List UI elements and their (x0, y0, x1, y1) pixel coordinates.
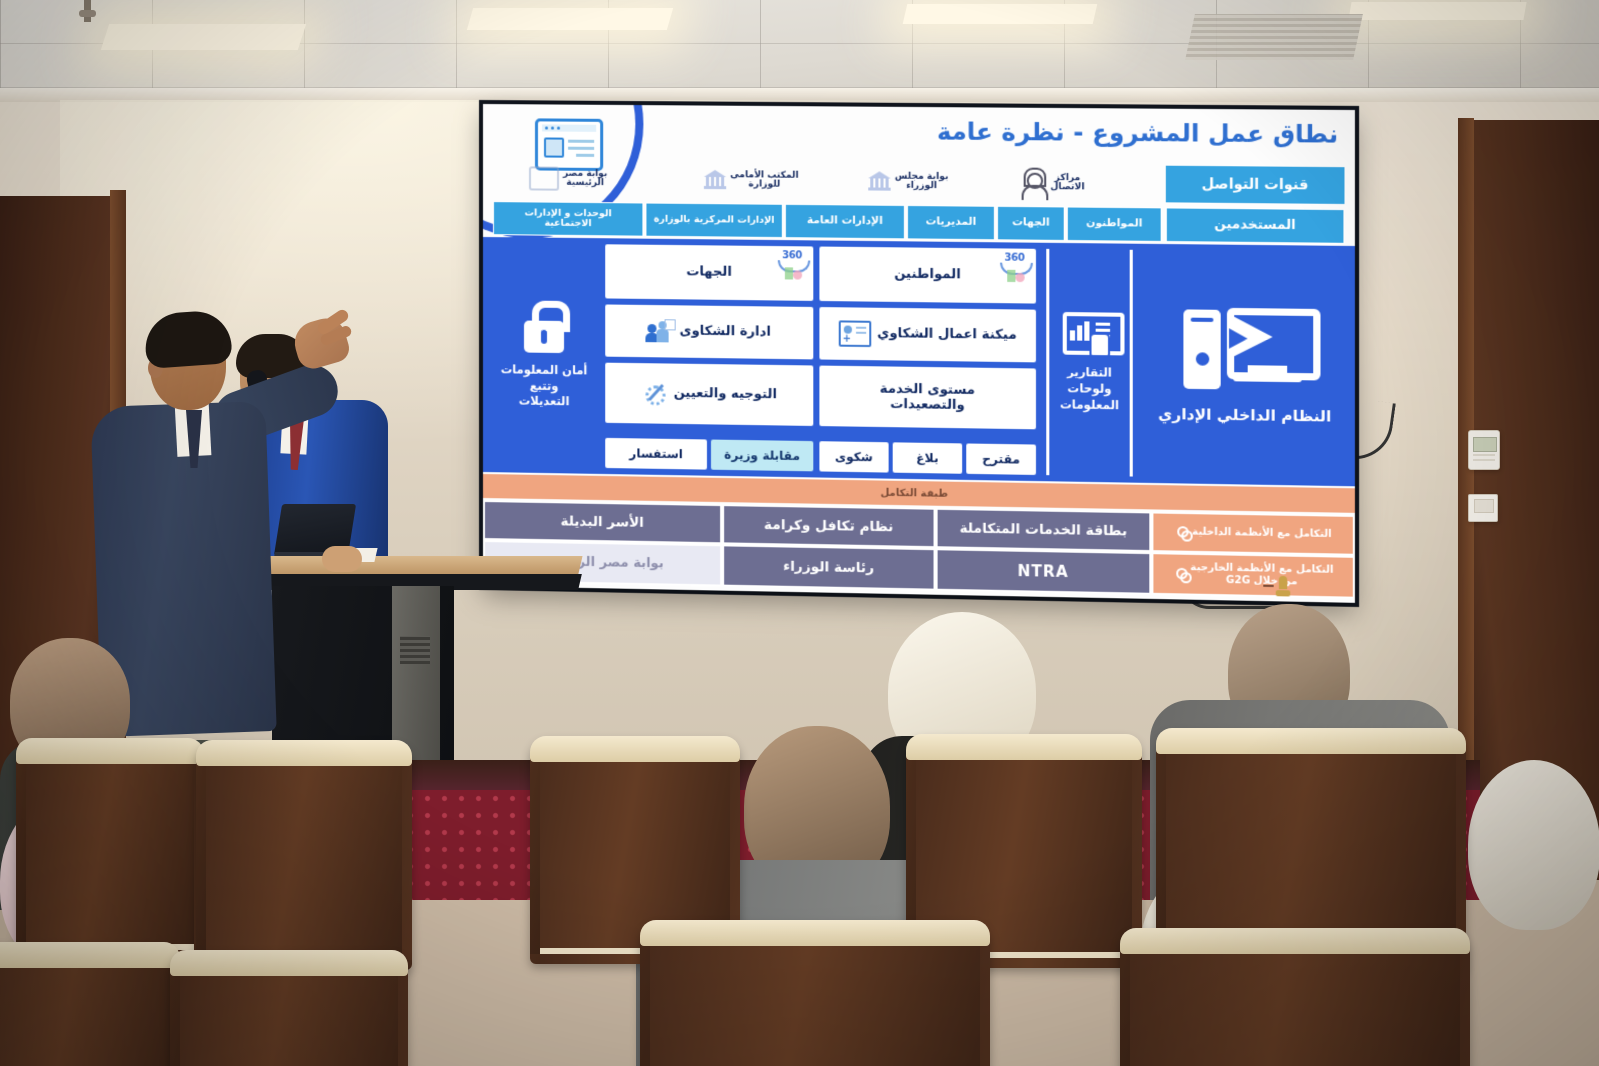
tag-complaint[interactable]: شكوى (819, 441, 888, 472)
tag-report[interactable]: بلاغ (893, 442, 962, 473)
thermostat-button-row[interactable] (1473, 459, 1495, 461)
channels-icon-row: مراكز الاتصال بوابة مجلس الوزراء المكتب … (483, 156, 1355, 208)
integration-grid: التكامل مع الأنظمة الداخلية بطاقة الخدما… (483, 500, 1355, 599)
ceiling (0, 0, 1599, 96)
card-entities[interactable]: الجهات 360 (605, 244, 813, 301)
security-section: أمان المعلومات وتتبع التعديلات (491, 243, 597, 468)
card-service-level[interactable]: مستوى الخدمة والتصعيدات (819, 366, 1036, 430)
bank-icon (704, 170, 726, 190)
integration-takaful-karama[interactable]: نظام تكافل وكرامة (722, 504, 935, 548)
integration-services-card[interactable]: بطاقة الخدمات المتكاملة (936, 508, 1152, 552)
lock-icon (521, 301, 567, 354)
audience-hijab (1468, 760, 1599, 930)
reports-label: التقارير ولوحات المعلومات (1060, 364, 1119, 414)
user-cell-central-admins: الإدارات المركزية بالوزارة (645, 203, 782, 239)
id-card-icon: + (839, 320, 872, 347)
tag-suggestion[interactable]: مقترح (966, 443, 1036, 475)
internal-system-section: النظام الداخلي الإداري (1143, 250, 1346, 480)
egypt-emblem-icon (1276, 576, 1291, 597)
presentation-screen[interactable]: نطاق عمل المشروع - نظرة عامة مراكز الاتص… (483, 104, 1355, 603)
people-icon (647, 319, 673, 343)
link-icon (1176, 568, 1190, 580)
emblem-dash (1263, 585, 1273, 587)
internal-system-label: النظام الداخلي الإداري (1158, 404, 1331, 425)
cards-column-citizens: المواطنين 360 ميكنة اعمال الشكاوي + مستو… (819, 247, 1036, 475)
badge-360-icon: 360 (776, 250, 808, 281)
ceiling-air-vent (1185, 14, 1363, 60)
bank-icon (868, 171, 890, 191)
integration-cabinet[interactable]: رئاسة الوزراء (722, 544, 935, 590)
presenter-secondary-hand (322, 546, 362, 572)
thermostat-display (1473, 437, 1497, 452)
dashboard-icon (1063, 312, 1117, 355)
channel-ministry-front-office: المكتب الأمامى للوزارة (704, 158, 854, 204)
ceiling-light-panel (903, 4, 1098, 24)
light-switch[interactable] (1468, 494, 1498, 522)
user-cell-social-units: الوحدات و الإدارات الاجتماعية (493, 201, 643, 237)
tags-row-left: استفسار مقابلة وزيرة (605, 438, 813, 471)
badge-360-icon: 360 (998, 252, 1031, 283)
slide-title: نطاق عمل المشروع - نظرة عامة (937, 117, 1338, 148)
auditorium-chair[interactable] (170, 952, 408, 1066)
integration-alternative-families[interactable]: الأسر البديلة (483, 500, 722, 544)
conference-room-photo: نطاق عمل المشروع - نظرة عامة مراكز الاتص… (0, 0, 1599, 1066)
thermostat[interactable] (1468, 430, 1500, 470)
portal-icon (529, 166, 559, 190)
ceiling-light-panel (467, 8, 673, 30)
channel-cabinet-portal: بوابة مجلس الوزراء (868, 159, 1013, 205)
auditorium-chair[interactable] (0, 944, 180, 1066)
integration-external-systems[interactable]: التكامل مع الأنظمة الخارجية من خلال G2G (1151, 552, 1355, 599)
cards-column-entities: الجهات 360 ادارة الشكاوى التوجيه والتعيي… (605, 244, 813, 471)
headset-icon (1020, 168, 1047, 199)
tag-inquiry[interactable]: استفسار (605, 438, 707, 470)
auditorium-chair[interactable] (16, 740, 204, 960)
user-cell-citizens: المواطنون (1067, 206, 1162, 241)
sprinkler-head (84, 0, 91, 22)
integration-internal-systems[interactable]: التكامل مع الأنظمة الداخلية (1151, 511, 1355, 555)
card-routing-assignment[interactable]: التوجيه والتعيين (605, 363, 813, 426)
channels-header-cell: قنوات التواصل (1166, 162, 1345, 208)
slide: نطاق عمل المشروع - نظرة عامة مراكز الاتص… (483, 104, 1355, 603)
auditorium-chair[interactable] (640, 922, 990, 1066)
channel-call-centers: مراكز الاتصال (1020, 160, 1156, 206)
ceiling-light-panel (1348, 2, 1526, 20)
podium-vent (400, 636, 430, 664)
computer-system-icon (1183, 305, 1306, 394)
users-header-cell: المستخدمين (1166, 207, 1345, 243)
card-complaints-automation[interactable]: ميكنة اعمال الشكاوي + (819, 307, 1036, 362)
link-icon (1178, 526, 1192, 538)
auditorium-chair[interactable] (196, 742, 412, 970)
auditorium-chair[interactable] (1120, 930, 1470, 1066)
ceiling-light-panel (101, 24, 306, 50)
tag-minister-meeting[interactable]: مقابلة وزيرة (711, 440, 813, 472)
card-citizens[interactable]: المواطنين 360 (819, 247, 1036, 304)
reports-section: التقارير ولوحات المعلومات (1046, 249, 1133, 477)
user-cell-entities: الجهات (997, 206, 1065, 241)
tags-row-right: شكوى بلاغ مقترح (819, 441, 1036, 475)
user-cell-general-admins: الإدارات العامة (785, 204, 905, 239)
channel-egypt-main-portal: بوابة مصر الرئيسية (529, 156, 690, 202)
user-cell-directorates: المديريات (907, 205, 995, 240)
integration-ntra[interactable]: NTRA (936, 548, 1152, 595)
gear-icon (641, 381, 667, 405)
thermostat-button-row[interactable] (1473, 454, 1495, 456)
security-label: أمان المعلومات وتتبع التعديلات (501, 362, 588, 410)
podium-side-panel (392, 586, 440, 764)
card-complaints-management[interactable]: ادارة الشكاوى (605, 304, 813, 359)
